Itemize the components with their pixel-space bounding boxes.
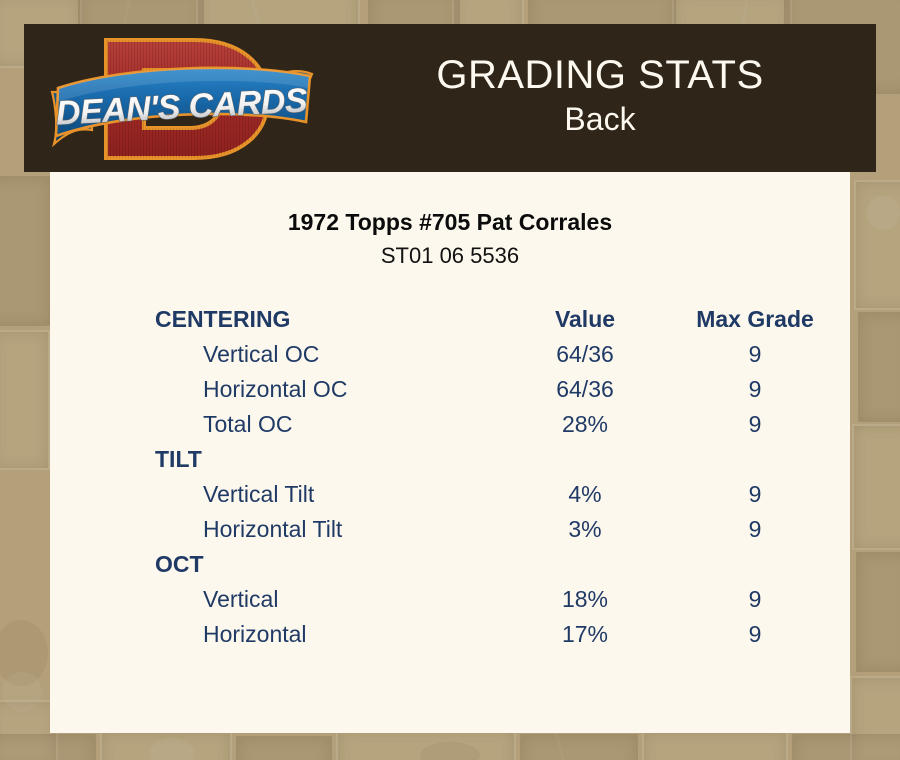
table-row: Vertical OC 64/36 9 — [155, 341, 812, 376]
table-row: Vertical 18% 9 — [155, 586, 812, 621]
row-value: 4% — [500, 481, 670, 508]
row-value: 28% — [500, 411, 670, 438]
row-max-grade: 9 — [670, 411, 840, 438]
section-header-tilt-row: TILT — [155, 446, 812, 481]
row-value: 64/36 — [500, 341, 670, 368]
section-header-tilt: TILT — [155, 446, 500, 473]
row-max-grade: 9 — [670, 341, 840, 368]
deans-cards-logo[interactable]: DEAN'S CARDS — [44, 26, 324, 172]
header-band: DEAN'S CARDS GRADING STATS Back — [24, 24, 876, 172]
row-value: 64/36 — [500, 376, 670, 403]
row-label: Vertical Tilt — [155, 481, 500, 508]
section-header-oct-row: OCT — [155, 551, 812, 586]
grading-stats-table: CENTERING Value Max Grade Vertical OC 64… — [50, 306, 850, 656]
row-label: Vertical OC — [155, 341, 500, 368]
page-subtitle: Back — [564, 100, 635, 138]
row-label: Horizontal OC — [155, 376, 500, 403]
content-panel: 1972 Topps #705 Pat Corrales ST01 06 553… — [50, 172, 850, 733]
section-header-centering: CENTERING — [155, 306, 500, 333]
table-row: Vertical Tilt 4% 9 — [155, 481, 812, 516]
row-max-grade: 9 — [670, 621, 840, 648]
row-max-grade: 9 — [670, 516, 840, 543]
row-label: Horizontal Tilt — [155, 516, 500, 543]
row-max-grade: 9 — [670, 481, 840, 508]
row-max-grade: 9 — [670, 376, 840, 403]
column-header-max-grade: Max Grade — [670, 306, 840, 333]
row-value: 3% — [500, 516, 670, 543]
table-row: Horizontal Tilt 3% 9 — [155, 516, 812, 551]
row-label: Horizontal — [155, 621, 500, 648]
card-serial-number: ST01 06 5536 — [50, 242, 850, 271]
column-header-value: Value — [500, 306, 670, 333]
row-value: 18% — [500, 586, 670, 613]
table-row: Horizontal 17% 9 — [155, 621, 812, 656]
page-title: GRADING STATS — [436, 53, 763, 98]
section-header-oct: OCT — [155, 551, 500, 578]
card-title: 1972 Topps #705 Pat Corrales — [50, 208, 850, 237]
table-row: Horizontal OC 64/36 9 — [155, 376, 812, 411]
row-label: Total OC — [155, 411, 500, 438]
table-row: Total OC 28% 9 — [155, 411, 812, 446]
row-max-grade: 9 — [670, 586, 840, 613]
table-header-row: CENTERING Value Max Grade — [155, 306, 812, 341]
row-label: Vertical — [155, 586, 500, 613]
row-value: 17% — [500, 621, 670, 648]
